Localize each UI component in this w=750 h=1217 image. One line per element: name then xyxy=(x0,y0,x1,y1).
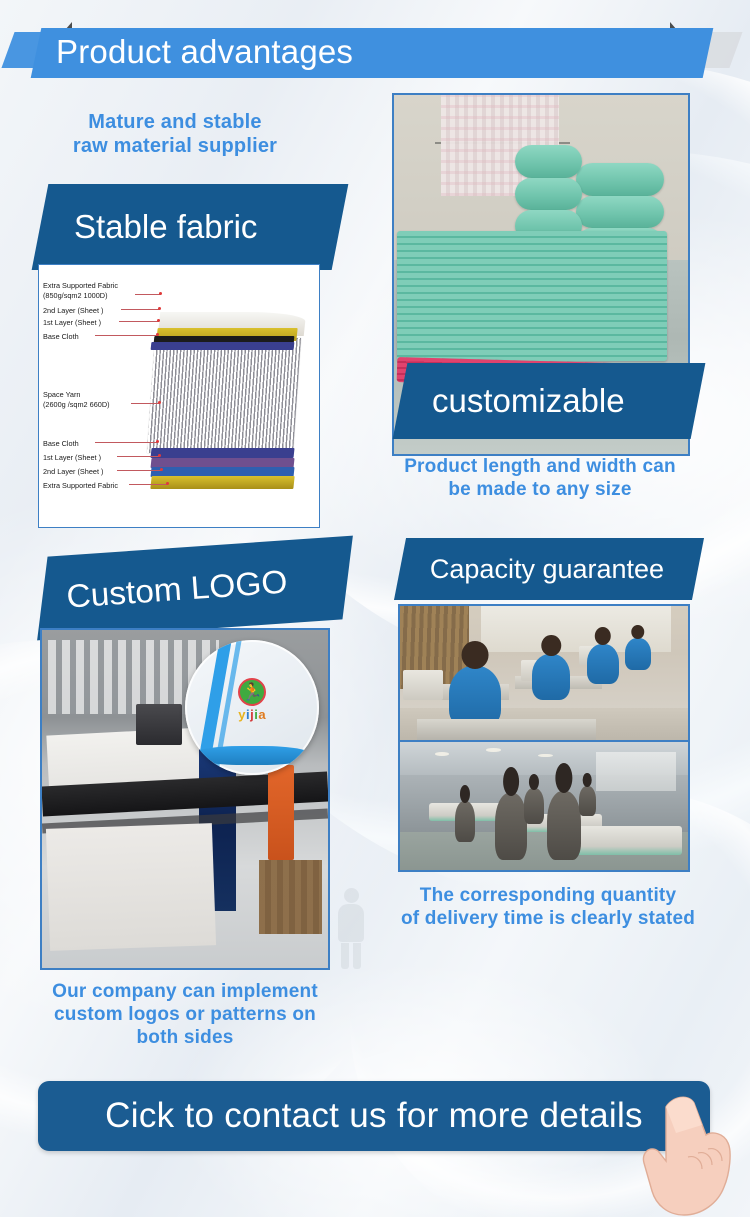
factory-worker xyxy=(524,788,544,824)
leader-dot xyxy=(160,468,163,471)
mat-roll xyxy=(515,178,583,210)
diagram-label: (2600g /sqm2 660D) xyxy=(43,400,110,410)
fabric-caption-line2: raw material supplier xyxy=(30,134,320,158)
customizable-caption: Product length and width can be made to … xyxy=(366,455,714,501)
leader-line xyxy=(131,403,159,404)
printing-machine-photo: 🏃 yijia xyxy=(40,628,330,970)
silhouette-head xyxy=(344,888,359,903)
mat-roll xyxy=(515,145,583,177)
customizable-caption-line2: be made to any size xyxy=(366,478,714,501)
capacity-caption-line2: of delivery time is clearly stated xyxy=(358,907,738,930)
mat-stack xyxy=(397,231,667,360)
customizable-banner-label: customizable xyxy=(432,382,625,420)
diagram-label: 1st Layer (Sheet ) xyxy=(43,318,101,328)
diagram-label: Base Cloth xyxy=(43,439,79,449)
logo-callout-bubble: 🏃 yijia xyxy=(185,640,319,775)
yijia-brand-text: yijia xyxy=(238,707,266,722)
custom-logo-banner: Custom LOGO xyxy=(37,536,353,641)
factory-worker xyxy=(579,786,596,817)
diagram-label: 1st Layer (Sheet ) xyxy=(43,453,101,463)
fabric-caption: Mature and stable raw material supplier xyxy=(30,110,320,159)
cutting-photo-inner xyxy=(400,742,688,870)
customizable-caption-line1: Product length and width can xyxy=(366,455,714,478)
yijia-logo: 🏃 yijia xyxy=(238,678,266,722)
diagram-label: 2nd Layer (Sheet ) xyxy=(43,306,103,316)
leader-line xyxy=(121,309,159,310)
leader-dot xyxy=(159,292,162,295)
capacity-guarantee-banner-label: Capacity guarantee xyxy=(430,554,664,585)
sewing-photo-inner xyxy=(400,606,688,740)
leader-line xyxy=(135,294,161,295)
factory-worker xyxy=(547,791,582,860)
diagram-label: Extra Supported Fabric xyxy=(43,281,118,291)
leader-line xyxy=(117,456,159,457)
fabric-caption-line1: Mature and stable xyxy=(30,110,320,134)
contact-cta-button[interactable]: Cick to contact us for more details xyxy=(38,1081,710,1151)
custom-logo-caption-line2: custom logos or patterns on xyxy=(16,1003,354,1026)
work-bench xyxy=(417,719,596,740)
factory-worker xyxy=(532,654,569,700)
sheet-extra-supported-bottom xyxy=(150,476,294,489)
diagram-label: 2nd Layer (Sheet ) xyxy=(43,467,103,477)
leader-dot xyxy=(166,482,169,485)
mat-roll xyxy=(576,163,664,195)
factory-worker xyxy=(625,638,651,670)
sewing-factory-photo xyxy=(398,604,690,740)
custom-logo-caption: Our company can implement custom logos o… xyxy=(16,980,354,1050)
factory-worker xyxy=(455,801,475,842)
capacity-guarantee-banner: Capacity guarantee xyxy=(394,538,704,600)
silhouette-legs xyxy=(338,943,364,969)
sewing-machine xyxy=(403,670,443,699)
stable-fabric-banner: Stable fabric xyxy=(32,184,349,270)
print-head xyxy=(136,704,182,745)
wood-floor-area xyxy=(259,860,322,934)
leader-line xyxy=(95,442,157,443)
bubble-base-strip xyxy=(190,746,314,765)
stable-fabric-banner-label: Stable fabric xyxy=(74,208,257,246)
factory-worker xyxy=(587,644,619,684)
workshop-window xyxy=(596,752,677,790)
leader-line xyxy=(95,335,157,336)
leader-dot xyxy=(158,401,161,404)
space-yarn-block xyxy=(147,338,301,453)
diagram-label: Extra Supported Fabric xyxy=(43,481,118,491)
contact-cta-label: Cick to contact us for more details xyxy=(105,1096,643,1136)
diagram-label: Base Cloth xyxy=(43,332,79,342)
capacity-caption-line1: The corresponding quantity xyxy=(358,884,738,907)
running-figure-icon: 🏃 xyxy=(238,678,266,706)
factory-worker xyxy=(495,793,527,860)
custom-logo-banner-label: Custom LOGO xyxy=(65,563,288,616)
leader-dot xyxy=(158,307,161,310)
leader-dot xyxy=(156,440,159,443)
leader-line xyxy=(129,484,167,485)
leader-dot xyxy=(158,454,161,457)
printer-orange-bracket xyxy=(268,765,294,860)
running-figure-glyph: 🏃 xyxy=(242,683,263,700)
page-title: Product advantages xyxy=(0,26,750,78)
pointing-hand-icon xyxy=(630,1077,750,1217)
leader-dot xyxy=(156,333,159,336)
custom-logo-caption-line3: both sides xyxy=(16,1026,354,1049)
page-header: Product advantages xyxy=(0,10,750,72)
printing-photo-inner: 🏃 yijia xyxy=(42,630,328,968)
capacity-caption: The corresponding quantity of delivery t… xyxy=(358,884,738,930)
fabric-output-sheet xyxy=(46,823,216,950)
silhouette-leg xyxy=(353,943,361,969)
custom-logo-caption-line1: Our company can implement xyxy=(16,980,354,1003)
factory-worker xyxy=(449,666,501,726)
customizable-banner: customizable xyxy=(393,363,706,439)
sheet-base-cloth-top xyxy=(151,342,295,350)
ceiling-lamp xyxy=(435,752,449,756)
mat-roll xyxy=(576,196,664,228)
leader-line xyxy=(119,321,159,322)
fabric-layer-diagram: Extra Supported Fabric (850g/sqm2 1000D)… xyxy=(38,264,320,528)
diagram-label: Space Yarn xyxy=(43,390,80,400)
cutting-room-photo xyxy=(398,740,690,872)
diagram-label: (850g/sqm2 1000D) xyxy=(43,291,108,301)
silhouette-leg xyxy=(341,943,349,969)
infographic-page: Product advantages Mature and stable raw… xyxy=(0,0,750,1217)
leader-line xyxy=(117,470,161,471)
leader-dot xyxy=(157,319,160,322)
